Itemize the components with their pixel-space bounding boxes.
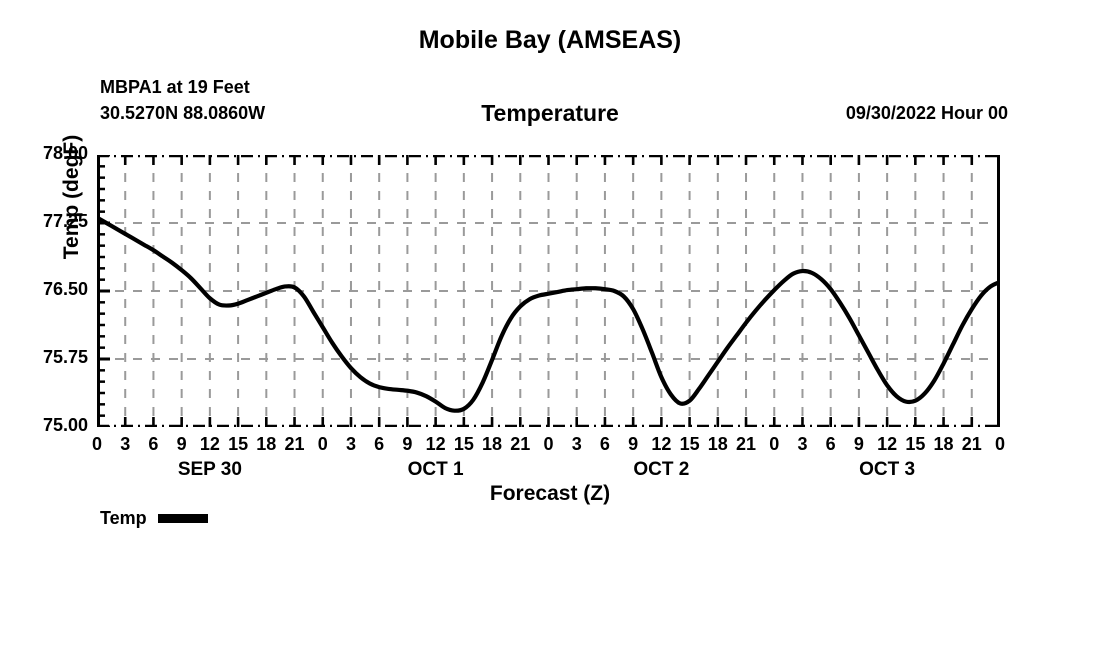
x-axis-day-labels: SEP 30OCT 1OCT 2OCT 3	[0, 0, 1100, 650]
x-axis-title: Forecast (Z)	[0, 482, 1100, 506]
x-axis-day-label: SEP 30	[130, 459, 290, 481]
legend-item-label-temp: Temp	[100, 508, 147, 529]
x-axis-day-label: OCT 2	[581, 459, 741, 481]
x-axis-day-label: OCT 3	[807, 459, 967, 481]
x-axis-day-label: OCT 1	[356, 459, 516, 481]
legend-swatch-temp	[158, 514, 208, 523]
chart-legend: Temp	[100, 508, 208, 529]
